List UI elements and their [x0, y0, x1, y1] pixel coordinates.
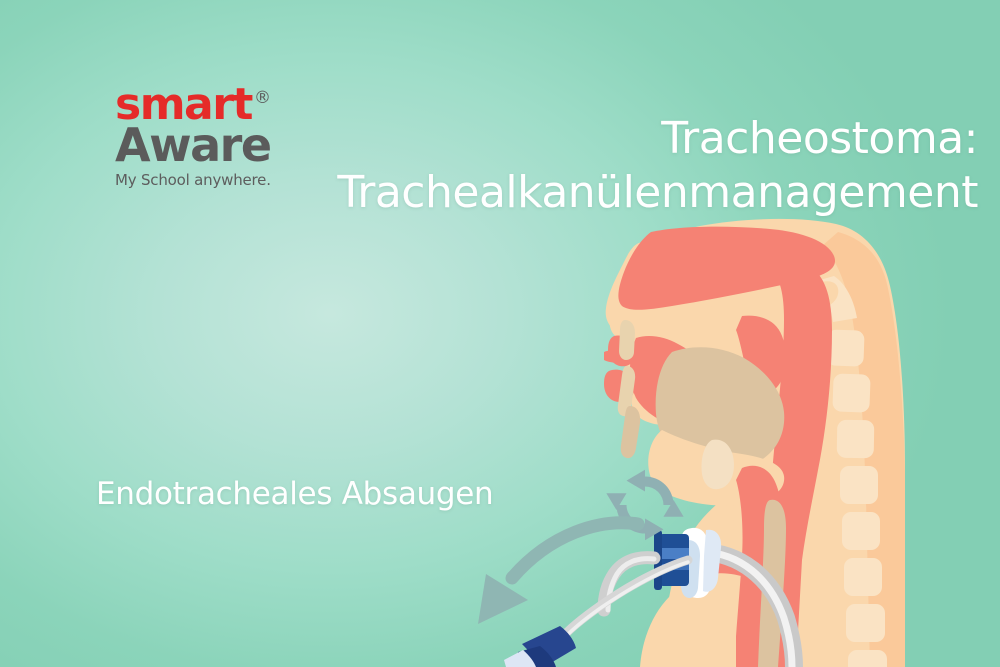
upper-teeth — [619, 320, 635, 360]
slide-canvas: smart® Aware My School anywhere. Tracheo… — [0, 0, 1000, 667]
registered-trademark-icon: ® — [254, 88, 271, 108]
logo-tagline: My School anywhere. — [115, 171, 325, 189]
logo-word-aware: Aware — [115, 122, 325, 168]
title-line-2: Trachealkanülenmanagement — [337, 166, 978, 220]
epiglottis — [701, 440, 733, 490]
page-title: Tracheostoma: Trachealkanülenmanagement — [337, 112, 978, 219]
title-line-1: Tracheostoma: — [337, 112, 978, 166]
subtitle-endotracheal-suction: Endotracheales Absaugen — [96, 476, 493, 512]
curved-arrow-icon — [440, 500, 660, 640]
smartaware-logo[interactable]: smart® Aware My School anywhere. — [115, 84, 325, 189]
